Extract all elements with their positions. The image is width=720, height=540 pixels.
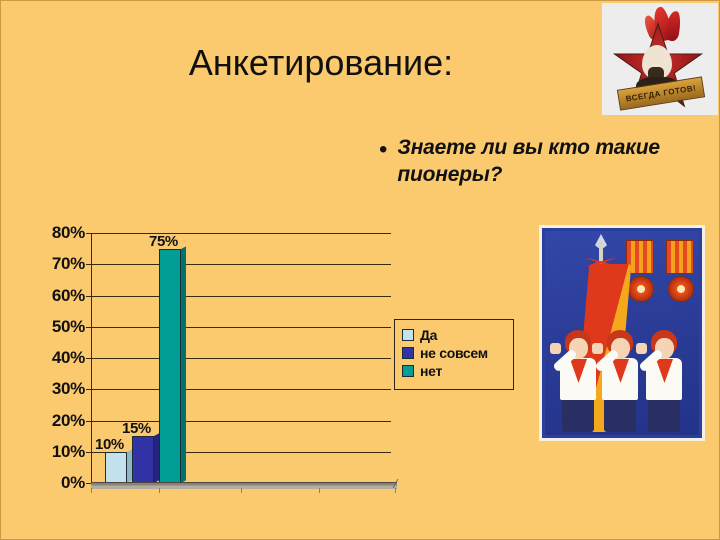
bar-side-face (181, 246, 186, 483)
bar-front-face (132, 436, 154, 483)
legend-label: нет (420, 364, 442, 378)
bar-3[interactable] (159, 249, 181, 483)
y-tick-label: 60% (11, 286, 85, 306)
x-tick-mark (159, 488, 160, 493)
y-tick-mark (86, 296, 91, 297)
bullet-text: Знаете ли вы кто такие пионеры? (397, 135, 679, 189)
bullet-marker-icon: • (379, 135, 387, 165)
legend-swatch-icon (402, 329, 414, 341)
medal-disc (628, 276, 654, 302)
pioneer-poster-image (539, 225, 705, 441)
pioneer-legs (604, 398, 636, 432)
slide-canvas: Анкетирование: • Знаете ли вы кто такие … (0, 0, 720, 540)
gridline (91, 296, 391, 297)
legend-item-1[interactable]: Да (402, 328, 505, 342)
legend-item-3[interactable]: нет (402, 364, 505, 378)
pioneer-badge-image: ВСЕГДА ГОТОВ! (602, 3, 718, 115)
list-item: • Знаете ли вы кто такие пионеры? (379, 135, 679, 189)
medal-disc (668, 276, 694, 302)
legend-swatch-icon (402, 347, 414, 359)
plot-area: 0%10%20%30%40%50%60%70%80% 10%15%75% (91, 233, 391, 483)
x-tick-mark (395, 488, 396, 493)
y-tick-mark (86, 421, 91, 422)
pioneer-hand (550, 343, 561, 354)
pioneer-legs (648, 398, 680, 432)
y-tick-mark (86, 358, 91, 359)
y-tick-label: 20% (11, 411, 85, 431)
bar-front-face (105, 452, 127, 483)
legend-item-2[interactable]: не совсем (402, 346, 505, 360)
y-tick-label: 40% (11, 348, 85, 368)
bar-value-label: 10% (95, 436, 124, 453)
y-tick-label: 30% (11, 379, 85, 399)
legend-label: Да (420, 328, 437, 342)
gridline (91, 327, 391, 328)
y-tick-mark (86, 327, 91, 328)
chart-legend: Дане совсемнет (394, 319, 514, 390)
gridline (91, 389, 391, 390)
x-tick-mark (319, 488, 320, 493)
y-tick-label: 0% (11, 473, 85, 493)
y-tick-mark (86, 233, 91, 234)
bar-1[interactable] (105, 452, 127, 483)
page-title: Анкетирование: (41, 43, 601, 83)
medal-icon (666, 240, 696, 302)
y-tick-mark (86, 452, 91, 453)
gridline (91, 233, 391, 234)
pioneer-legs (562, 398, 594, 432)
y-tick-mark (86, 389, 91, 390)
x-tick-mark (241, 488, 242, 493)
x-tick-mark (91, 488, 92, 493)
pioneer-hand (636, 343, 647, 354)
y-tick-label: 50% (11, 317, 85, 337)
y-tick-label: 80% (11, 223, 85, 243)
gridline (91, 264, 391, 265)
bar-front-face (159, 249, 181, 483)
pioneer-figure (642, 330, 686, 434)
medal-ribbon (666, 240, 694, 274)
bar-value-label: 75% (149, 233, 178, 250)
pioneer-hand (592, 343, 603, 354)
bar-value-label: 15% (122, 420, 151, 437)
bar-2[interactable] (132, 436, 154, 483)
gridline (91, 358, 391, 359)
bullet-list: • Знаете ли вы кто такие пионеры? (379, 135, 679, 189)
x-axis-floor (91, 482, 397, 489)
survey-bar-chart: 0%10%20%30%40%50%60%70%80% 10%15%75% Дан… (9, 219, 534, 519)
y-tick-mark (86, 264, 91, 265)
legend-label: не совсем (420, 346, 488, 360)
y-tick-label: 10% (11, 442, 85, 462)
legend-swatch-icon (402, 365, 414, 377)
y-tick-label: 70% (11, 254, 85, 274)
